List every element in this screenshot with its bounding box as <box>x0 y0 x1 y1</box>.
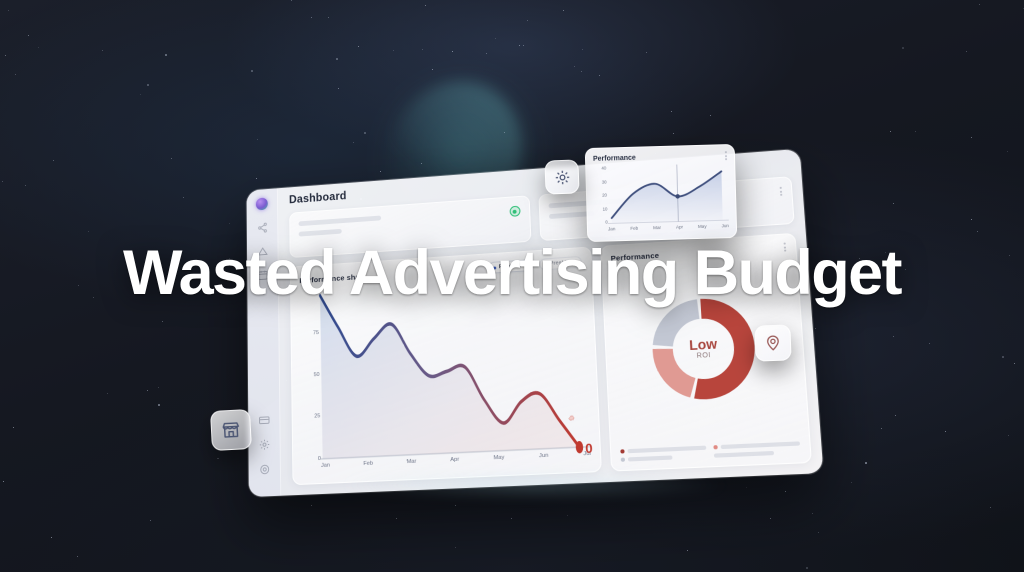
axis-tick-label: 0 <box>595 219 608 224</box>
sidebar-item-share-nodes[interactable] <box>256 222 267 234</box>
axis-tick-label: 50 <box>301 371 320 378</box>
axis-tick-label: Apr <box>676 224 683 233</box>
broken-piggy-bank-icon <box>561 414 584 435</box>
gear-badge[interactable] <box>544 159 579 194</box>
axis-tick-label: May <box>493 455 504 468</box>
axis-tick-label: 30 <box>594 179 607 184</box>
legend-row <box>620 446 705 454</box>
gear-icon <box>553 168 571 186</box>
app-logo-orb[interactable] <box>256 197 268 210</box>
overflow-menu-icon[interactable] <box>725 151 727 160</box>
dashboard-window[interactable]: Dashboard <box>247 149 824 497</box>
sidebar-spacer <box>263 293 264 401</box>
sidebar-item-gear[interactable] <box>258 439 269 451</box>
map-pin-icon <box>764 334 783 353</box>
storefront-icon <box>220 419 241 440</box>
sidebar-item-billing[interactable] <box>258 414 269 426</box>
location-badge[interactable] <box>754 324 791 361</box>
axis-tick-label: 20 <box>594 193 607 198</box>
axis-tick-label: 75 <box>300 330 319 337</box>
axis-tick-label: 40 <box>593 166 606 171</box>
legend-row <box>713 441 800 449</box>
overflow-menu-icon[interactable] <box>780 187 785 224</box>
axis-tick-label: May <box>698 224 707 233</box>
axis-tick-label: Jun <box>539 453 549 466</box>
mini-card-title: Performance <box>593 155 636 163</box>
axis-tick-label: 0 <box>302 456 321 463</box>
hero-headline: Wasted Advertising Budget <box>0 237 1024 309</box>
axis-tick-label: Jan <box>608 226 616 235</box>
mini-card-body: 403020100 JanFebMarAprMayJun <box>593 161 729 236</box>
axis-tick-label: 10 <box>594 206 607 211</box>
legend-row <box>713 450 800 458</box>
axis-tick-label: 25 <box>301 414 320 421</box>
skeleton-line <box>299 229 342 237</box>
dashboard-main: Dashboard <box>278 149 824 496</box>
mini-performance-card[interactable]: Performance 403020100 <box>585 144 738 242</box>
legend-skeleton <box>628 455 672 461</box>
mini-chart-plot: JanFebMarAprMayJun <box>606 161 729 235</box>
legend-skeleton <box>713 451 774 458</box>
legend-dot <box>713 445 717 449</box>
skeleton-line <box>299 216 382 227</box>
legend-row <box>621 454 707 462</box>
donut-legend <box>620 441 800 461</box>
axis-tick-label: Apr <box>450 457 459 470</box>
mini-x-axis-ticks: JanFebMarAprMayJun <box>608 223 729 235</box>
bottom-glow <box>255 472 815 498</box>
shop-badge[interactable] <box>210 409 252 451</box>
legend-skeleton <box>628 446 706 454</box>
axis-tick-label: Feb <box>630 226 638 235</box>
axis-tick-label: Mar <box>407 459 417 472</box>
mini-chart-svg <box>606 161 729 225</box>
donut-svg <box>647 293 761 405</box>
legend-skeleton <box>720 441 800 449</box>
status-ok-badge <box>509 206 520 217</box>
legend-dot <box>621 458 625 462</box>
sidebar <box>247 188 282 497</box>
zero-value-label: 0 <box>585 441 593 455</box>
legend-dot <box>620 449 624 453</box>
axis-tick-label: Jun <box>721 223 729 232</box>
axis-tick-label: Mar <box>653 225 661 234</box>
